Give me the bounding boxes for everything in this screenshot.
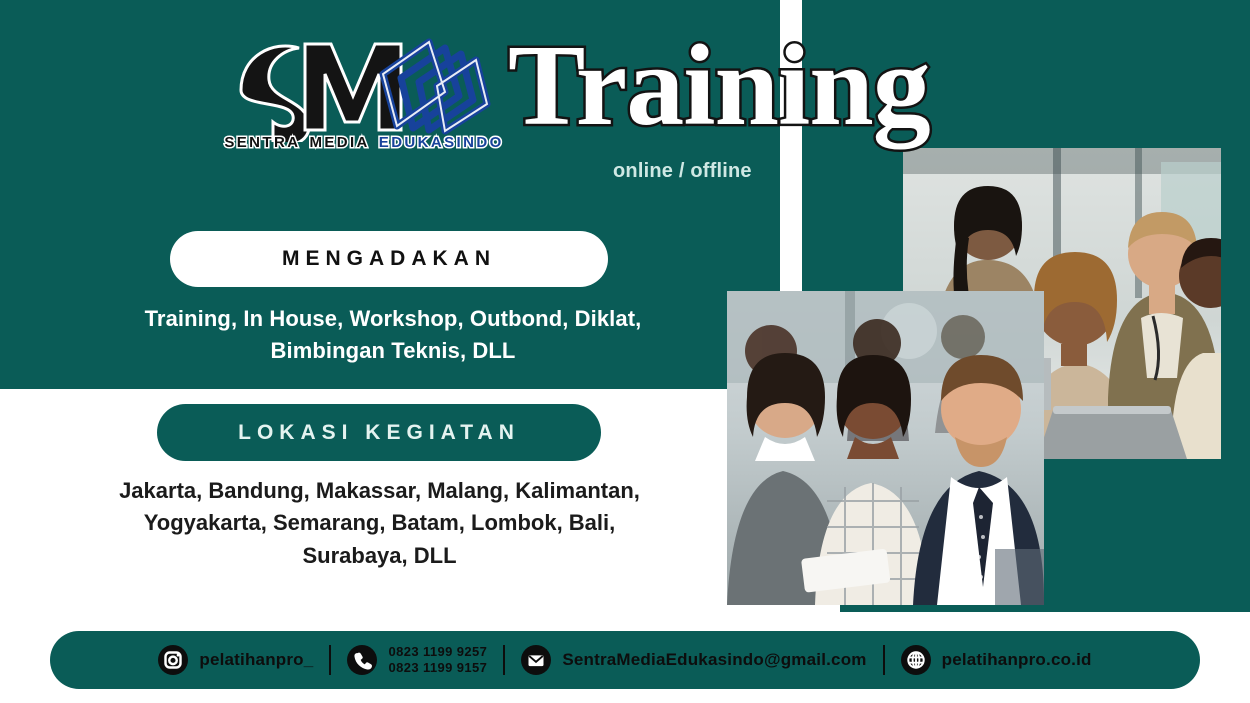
instagram-handle[interactable]: pelatihanpro_ bbox=[199, 650, 313, 670]
globe-icon[interactable] bbox=[901, 645, 931, 675]
footer-separator-2 bbox=[503, 645, 505, 675]
company-logo: SENTRA MEDIA EDUKASINDO bbox=[233, 30, 495, 165]
lokasi-kegiatan-pill: LOKASI KEGIATAN bbox=[157, 404, 601, 461]
footer-instagram[interactable]: pelatihanpro_ bbox=[158, 645, 313, 675]
phone-icon[interactable] bbox=[347, 645, 377, 675]
phone-number-2[interactable]: 0823 1199 9157 bbox=[388, 660, 487, 676]
training-audience-photo bbox=[727, 291, 1044, 605]
contact-footer-bar: pelatihanpro_ 0823 1199 9257 0823 1199 9… bbox=[50, 631, 1200, 689]
lokasi-kegiatan-list: Jakarta, Bandung, Makassar, Malang, Kali… bbox=[92, 475, 667, 572]
logo-word-sentra: SENTRA bbox=[224, 134, 300, 151]
footer-separator-1 bbox=[329, 645, 331, 675]
mengadakan-pill: MENGADAKAN bbox=[170, 231, 608, 287]
envelope-icon[interactable] bbox=[521, 645, 551, 675]
phone-number-1[interactable]: 0823 1199 9257 bbox=[388, 644, 487, 660]
page-subtitle: online / offline bbox=[613, 160, 752, 183]
page-title: Training bbox=[508, 28, 930, 144]
logo-wordmark: SENTRA MEDIA EDUKASINDO bbox=[233, 134, 495, 151]
mengadakan-pill-label: MENGADAKAN bbox=[282, 247, 496, 271]
logo-word-edukasindo: EDUKASINDO bbox=[379, 134, 504, 151]
email-address[interactable]: SentraMediaEdukasindo@gmail.com bbox=[562, 650, 866, 670]
footer-email[interactable]: SentraMediaEdukasindo@gmail.com bbox=[521, 645, 866, 675]
footer-separator-3 bbox=[883, 645, 885, 675]
instagram-icon[interactable] bbox=[158, 645, 188, 675]
footer-phone[interactable]: 0823 1199 9257 0823 1199 9157 bbox=[347, 644, 487, 677]
lokasi-kegiatan-pill-label: LOKASI KEGIATAN bbox=[238, 421, 520, 445]
logo-mark-icon bbox=[233, 30, 495, 142]
promo-poster: SENTRA MEDIA EDUKASINDO Training online … bbox=[0, 0, 1250, 703]
photo-illustration-bottom bbox=[727, 291, 1044, 605]
mengadakan-list: Training, In House, Workshop, Outbond, D… bbox=[108, 303, 678, 367]
website-url[interactable]: pelatihanpro.co.id bbox=[942, 650, 1092, 670]
footer-website[interactable]: pelatihanpro.co.id bbox=[901, 645, 1092, 675]
logo-word-media: MEDIA bbox=[309, 134, 369, 151]
